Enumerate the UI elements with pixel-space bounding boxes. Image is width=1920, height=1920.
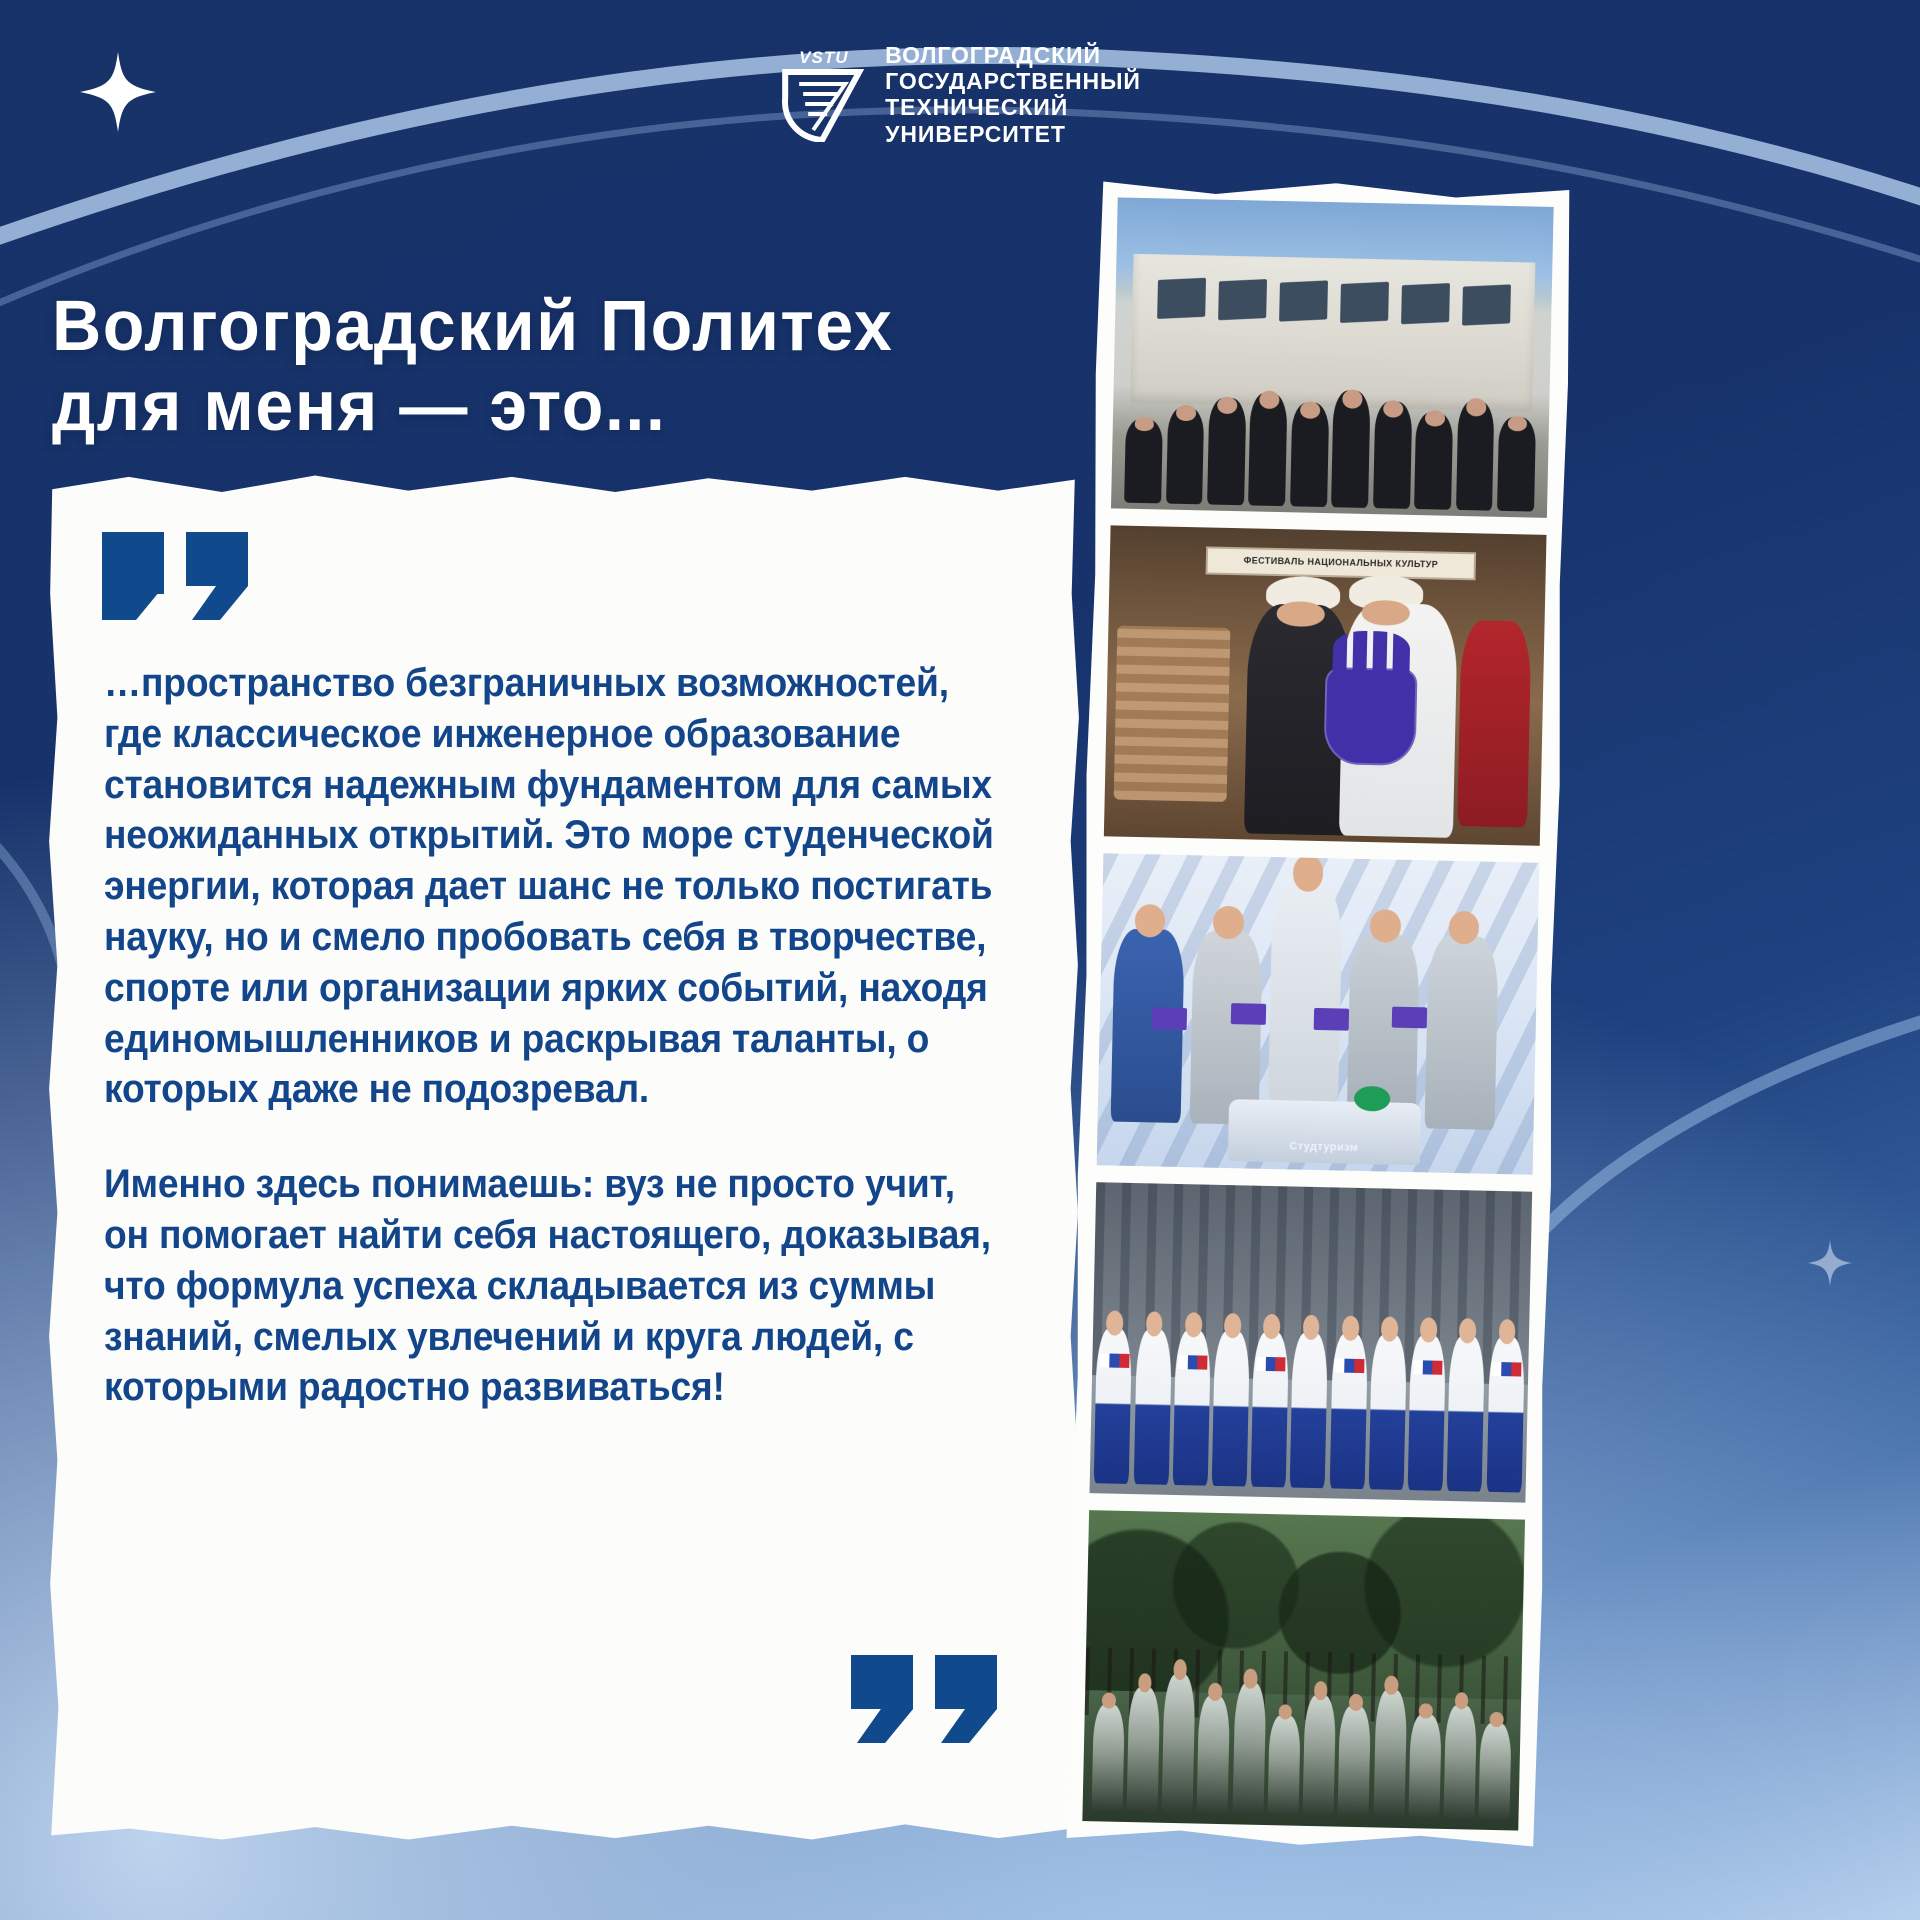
quote-paragraph-1: …пространство безграничных возможностей,… [104,658,1008,1115]
photo-3-card-1 [1152,1007,1187,1030]
svg-text:VSTU: VSTU [799,48,848,67]
sparkle-star-small-icon [1808,1240,1852,1286]
photo-2-face-left [1276,601,1324,627]
photo-1 [1111,197,1554,518]
photo-4 [1089,1182,1532,1503]
photo-3-podium [1228,1099,1421,1165]
quote-close-icon [851,1655,1003,1743]
photo-2-blue-glove-prop [1323,667,1417,765]
photo-4-team [1094,1303,1525,1493]
quote-text-block: …пространство безграничных возможностей,… [104,658,1004,1413]
photo-5 [1082,1510,1525,1831]
photo-1-windows [1150,273,1517,331]
photo-2-person-red-costume [1457,620,1531,827]
photo-3-card-3 [1313,1008,1348,1031]
quote-paragraph-2: Именно здесь понимаешь: вуз не просто уч… [104,1159,1008,1413]
photo-2-market-goods [1113,625,1230,802]
university-logo: VSTU ВОЛГОГРАДСКИЙ ГОСУДАРСТВЕННЫЙ ТЕХНИ… [779,42,1141,147]
university-name: ВОЛГОГРАДСКИЙ ГОСУДАРСТВЕННЫЙ ТЕХНИЧЕСКИ… [885,42,1141,147]
photo-3-student-3 [1268,882,1342,1101]
photo-strip: ФЕСТИВАЛЬ НАЦИОНАЛЬНЫХ КУЛЬТУР Студтуриз… [1060,173,1576,1855]
photo-3-student-2 [1189,930,1263,1124]
photo-3-card-4 [1392,1006,1427,1029]
quote-card: …пространство безграничных возможностей,… [46,470,1081,1845]
photo-3: Студтуризм [1097,854,1540,1175]
page-title: Волгоградский Политех для меня — это... [52,287,1012,446]
photo-5-group [1091,1638,1513,1821]
quote-open-icon [102,532,254,620]
photo-2-face-right [1361,600,1409,626]
poster-canvas: VSTU ВОЛГОГРАДСКИЙ ГОСУДАРСТВЕННЫЙ ТЕХНИ… [0,0,1920,1920]
photo-3-card-2 [1231,1003,1266,1026]
vstu-logo-icon: VSTU [779,46,865,142]
photo-3-student-5 [1425,936,1499,1130]
photo-2-banner-text: ФЕСТИВАЛЬ НАЦИОНАЛЬНЫХ КУЛЬТУР [1208,548,1475,577]
sparkle-star-icon [80,52,156,132]
photo-2: ФЕСТИВАЛЬ НАЦИОНАЛЬНЫХ КУЛЬТУР [1104,526,1547,847]
photo-2-banner: ФЕСТИВАЛЬ НАЦИОНАЛЬНЫХ КУЛЬТУР [1205,546,1476,580]
photo-1-students [1124,341,1537,512]
